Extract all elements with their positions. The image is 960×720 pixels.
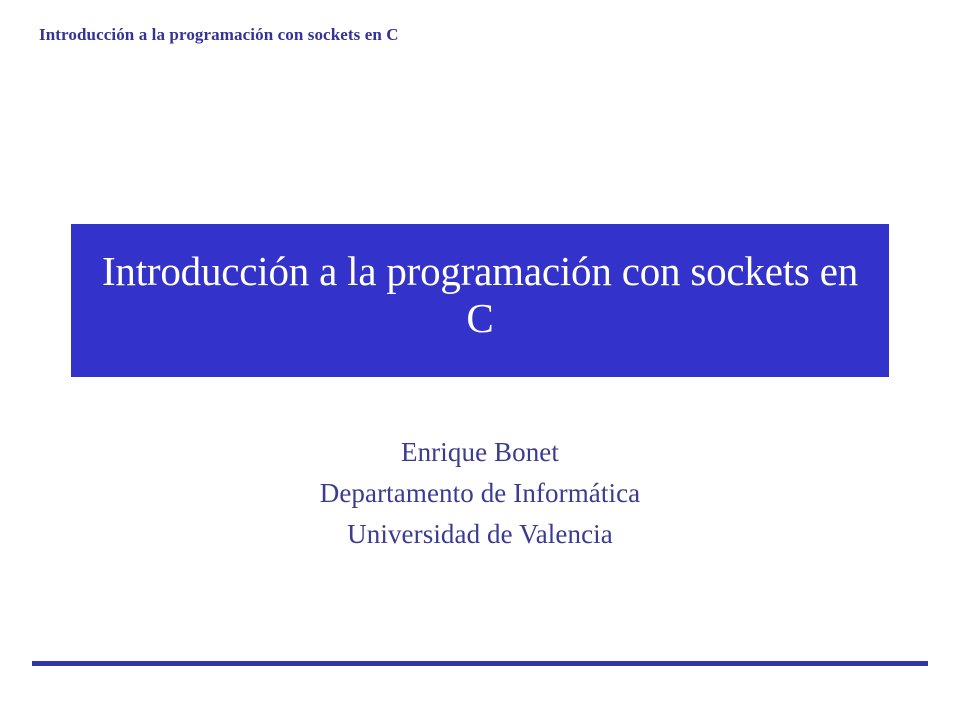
slide-title: Introducción a la programación con socke…	[71, 248, 889, 342]
footer-divider	[32, 661, 928, 666]
author-institution: Universidad de Valencia	[0, 514, 960, 555]
slide-title-line-1: Introducción a la programación con	[102, 248, 680, 294]
author-name: Enrique Bonet	[0, 432, 960, 473]
presentation-slide: Introducción a la programación con socke…	[0, 0, 960, 720]
slide-running-header: Introducción a la programación con socke…	[39, 25, 399, 45]
author-block: Enrique Bonet Departamento de Informátic…	[0, 432, 960, 555]
title-banner: Introducción a la programación con socke…	[71, 224, 889, 377]
author-department: Departamento de Informática	[0, 473, 960, 514]
